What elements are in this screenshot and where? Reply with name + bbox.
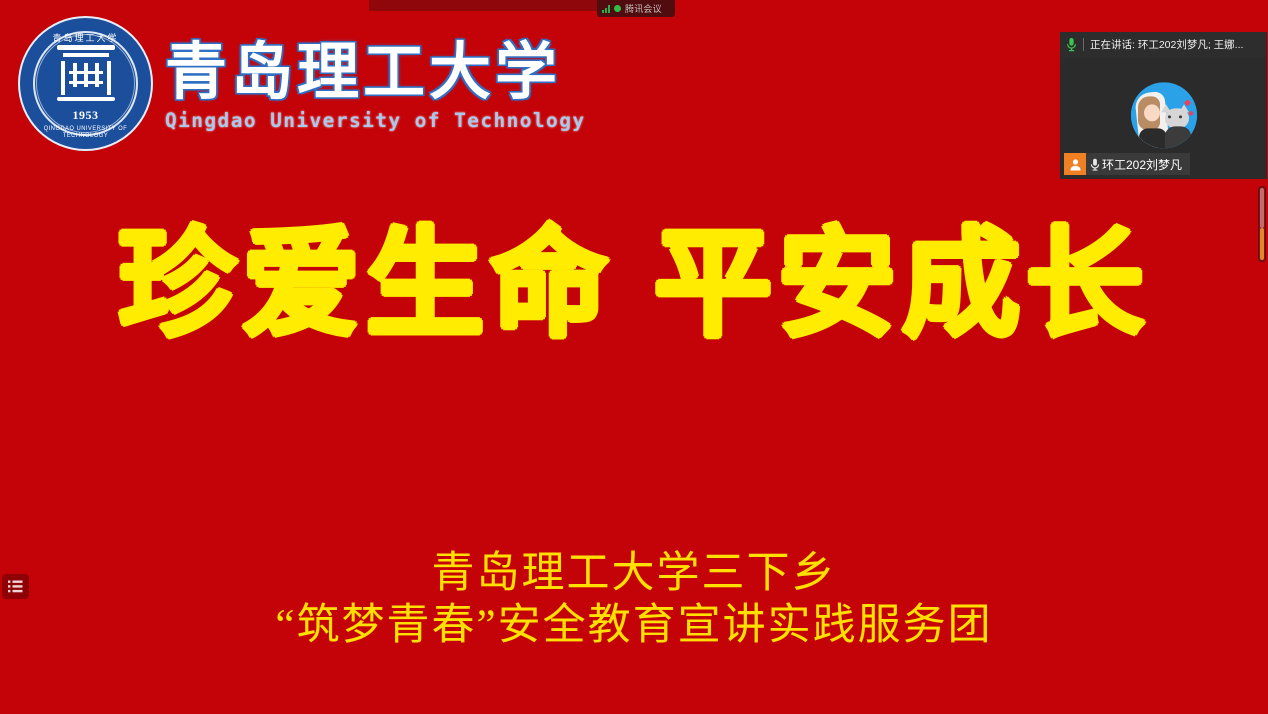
speaking-text: 正在讲话: 环工202刘梦凡; 王娜...: [1090, 37, 1243, 52]
university-name-cn: 青岛理工大学: [165, 41, 585, 107]
speaking-bar-divider: [1083, 38, 1084, 51]
user-avatar-photo: [1131, 82, 1197, 148]
video-stage[interactable]: 环工202刘梦凡: [1060, 57, 1267, 179]
presentation-screen: 腾讯会议 青岛理工大学 1953 QINGDAO UNIVERSITY OF T…: [0, 0, 1268, 714]
slide-title: 珍爱生命平安成长: [0, 218, 1268, 350]
slide-title-line: 珍爱生命平安成长: [0, 218, 1268, 350]
microphone-green-icon: [1066, 37, 1077, 52]
person-glyph: [1069, 158, 1082, 171]
slide-title-left: 珍爱生命: [118, 215, 614, 353]
scrollbar-thumb-upper[interactable]: [1260, 188, 1264, 228]
green-status-dot-icon: [614, 5, 621, 12]
university-seal-icon: 青岛理工大学 1953 QINGDAO UNIVERSITY OF TECHNO…: [20, 18, 151, 149]
slide-subtitle: 青岛理工大学三下乡 “筑梦青春”安全教育宣讲实践服务团: [0, 548, 1268, 652]
video-participant-panel[interactable]: 正在讲话: 环工202刘梦凡; 王娜...: [1060, 32, 1267, 179]
list-menu-glyph: [8, 580, 23, 593]
slide-subtitle-line2: “筑梦青春”安全教育宣讲实践服务团: [0, 600, 1268, 652]
meeting-status-badge[interactable]: 腾讯会议: [597, 0, 675, 17]
university-header: 青岛理工大学 1953 QINGDAO UNIVERSITY OF TECHNO…: [20, 18, 585, 149]
university-wordmark: 青岛理工大学 Qingdao University of Technology: [165, 35, 585, 132]
scrollbar-thumb-lower[interactable]: [1260, 228, 1264, 260]
seal-arc-cn: 青岛理工大学: [20, 31, 151, 44]
collapsed-meeting-toolbar[interactable]: [369, 0, 597, 11]
slide-title-right: 平安成长: [654, 215, 1150, 353]
speaking-indicator-bar: 正在讲话: 环工202刘梦凡; 王娜...: [1060, 32, 1267, 57]
list-menu-icon[interactable]: [2, 574, 29, 599]
seal-year: 1953: [20, 108, 151, 123]
participant-info: 环工202刘梦凡: [1086, 153, 1190, 175]
signal-bars-icon: [602, 5, 610, 13]
meeting-badge-label: 腾讯会议: [625, 2, 662, 15]
participant-name-plate: 环工202刘梦凡: [1064, 153, 1190, 175]
participant-name: 环工202刘梦凡: [1102, 156, 1182, 173]
seal-glyph: [53, 45, 119, 105]
slide-subtitle-line1: 青岛理工大学三下乡: [0, 548, 1268, 600]
microphone-icon: [1090, 158, 1100, 171]
university-name-en: Qingdao University of Technology: [165, 109, 585, 132]
seal-arc-en: QINGDAO UNIVERSITY OF TECHNOLOGY: [25, 125, 146, 139]
vertical-scrollbar[interactable]: [1258, 186, 1266, 262]
participant-person-icon: [1064, 153, 1086, 175]
